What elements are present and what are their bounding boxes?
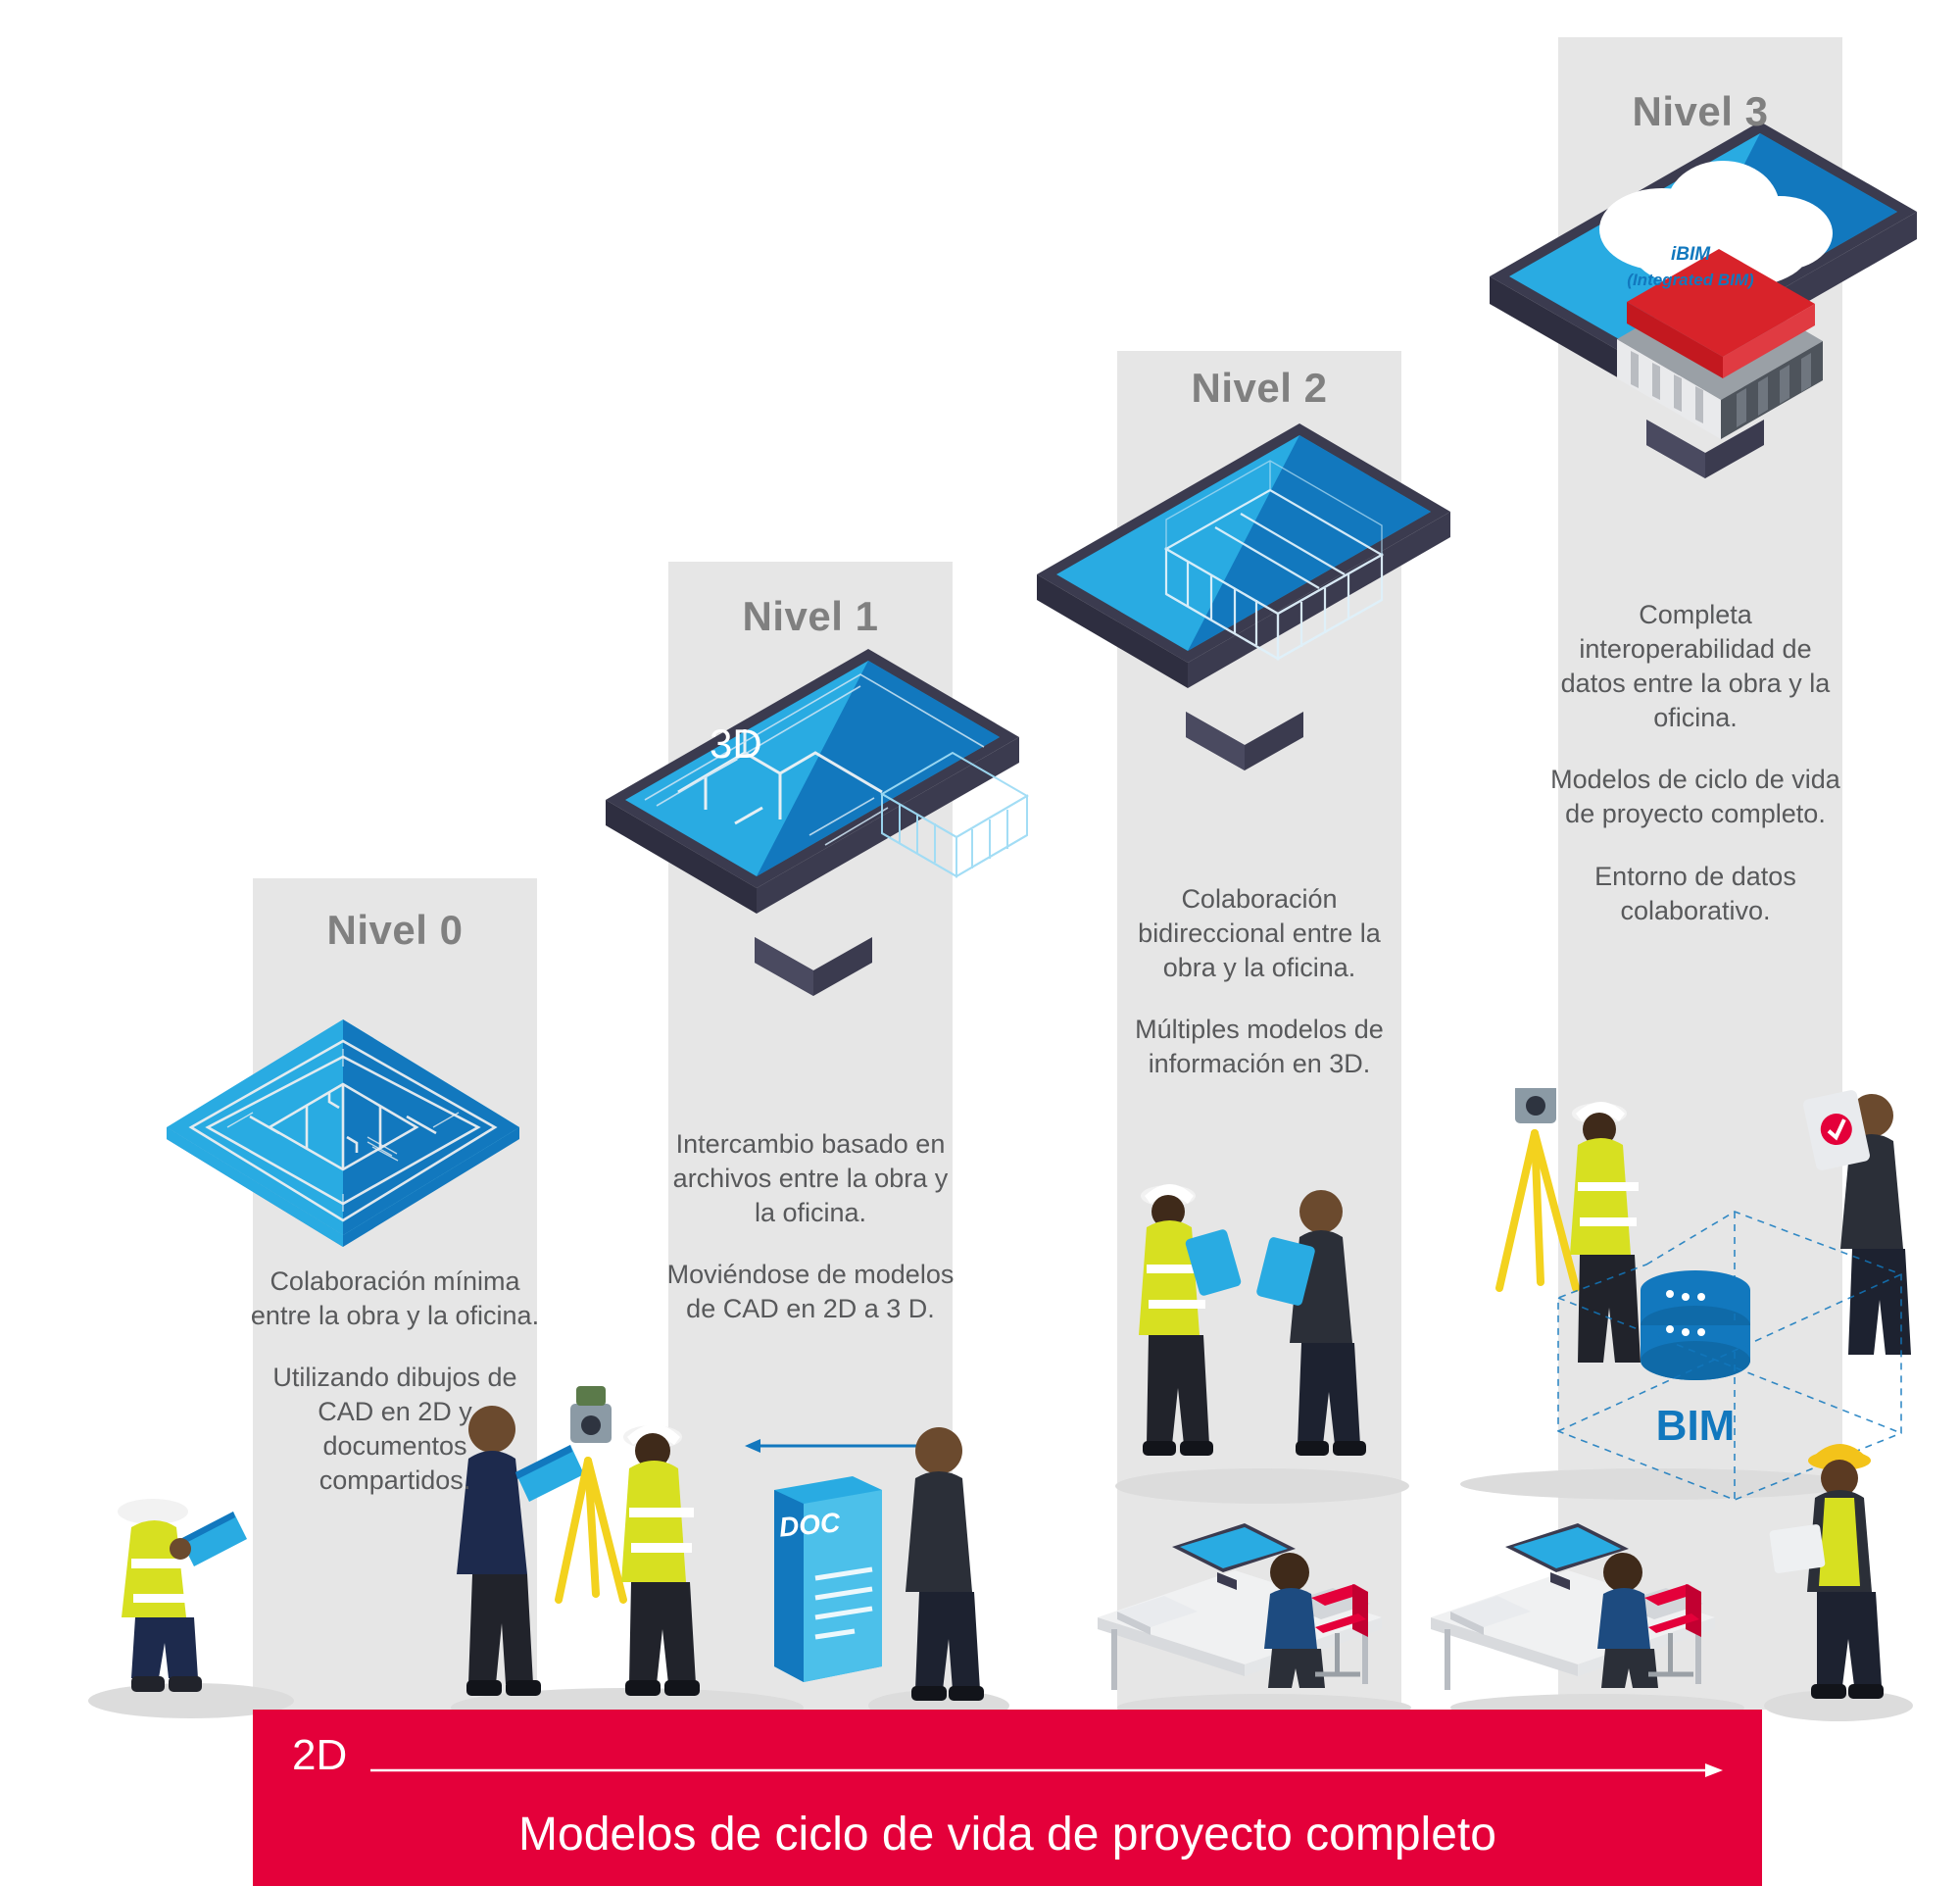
figure-group-level3-desk [1421, 1490, 1774, 1725]
isometric-2d-blueprint-plane [147, 980, 539, 1274]
level1-paragraph-2: Moviéndose de modelos de CAD en 2D a 3 D… [663, 1258, 957, 1326]
screen-label-3d: 3D [710, 720, 762, 768]
level-title-2: Nivel 2 [1117, 365, 1401, 412]
figure-group-level2-desk [1088, 1490, 1421, 1725]
banner-caption: Modelos de ciclo de vida de proyecto com… [253, 1808, 1762, 1861]
level3-paragraph-3: Entorno de datos colaborativo. [1548, 860, 1842, 928]
cloud-label-ibim: iBIM [1627, 243, 1754, 267]
level0-paragraph-2: Utilizando dibujos de CAD en 2D y docume… [248, 1361, 542, 1498]
level-description-0: Colaboración mínima entre la obra y la o… [248, 1265, 542, 1499]
level-title-0: Nivel 0 [253, 907, 537, 954]
level3-paragraph-2: Modelos de ciclo de vida de proyecto com… [1548, 763, 1842, 831]
level-description-2: Colaboración bidireccional entre la obra… [1112, 882, 1406, 1081]
document-label: DOC [778, 1507, 842, 1543]
cloud-label-integrated-bim: (Integrated BIM) [1597, 270, 1784, 290]
figure-group-level2-standing [1098, 1157, 1431, 1510]
level1-paragraph-1: Intercambio basado en archivos entre la … [663, 1127, 957, 1230]
bottom-banner: 2D Modelos de ciclo de vida de proyecto … [253, 1710, 1762, 1886]
level-description-1: Intercambio basado en archivos entre la … [663, 1127, 957, 1326]
level3-paragraph-1: Completa interoperabilidad de datos entr… [1548, 598, 1842, 735]
screen-label-2d: 2D [530, 821, 583, 869]
figure-businessman-level1 [862, 1402, 1019, 1725]
isometric-monitor-ibim-cloud [1470, 98, 1940, 520]
isometric-monitor-2d-3d [588, 627, 1039, 1039]
level0-paragraph-1: Colaboración mínima entre la obra y la o… [248, 1265, 542, 1333]
right-arrow-icon [370, 1761, 1723, 1780]
level-title-3: Nivel 3 [1558, 88, 1842, 135]
level2-paragraph-1: Colaboración bidireccional entre la obra… [1112, 882, 1406, 985]
level-description-3: Completa interoperabilidad de datos entr… [1548, 598, 1842, 928]
isometric-monitor-3d-wireframe [1019, 402, 1470, 814]
level2-paragraph-2: Múltiples modelos de información en 3D. [1112, 1013, 1406, 1081]
bim-maturity-diagram: 3D 2D [0, 0, 1960, 1886]
figure-worker-yellow-helmet [1754, 1412, 1931, 1725]
level-title-1: Nivel 1 [668, 593, 953, 640]
banner-axis-label: 2D [292, 1731, 347, 1780]
